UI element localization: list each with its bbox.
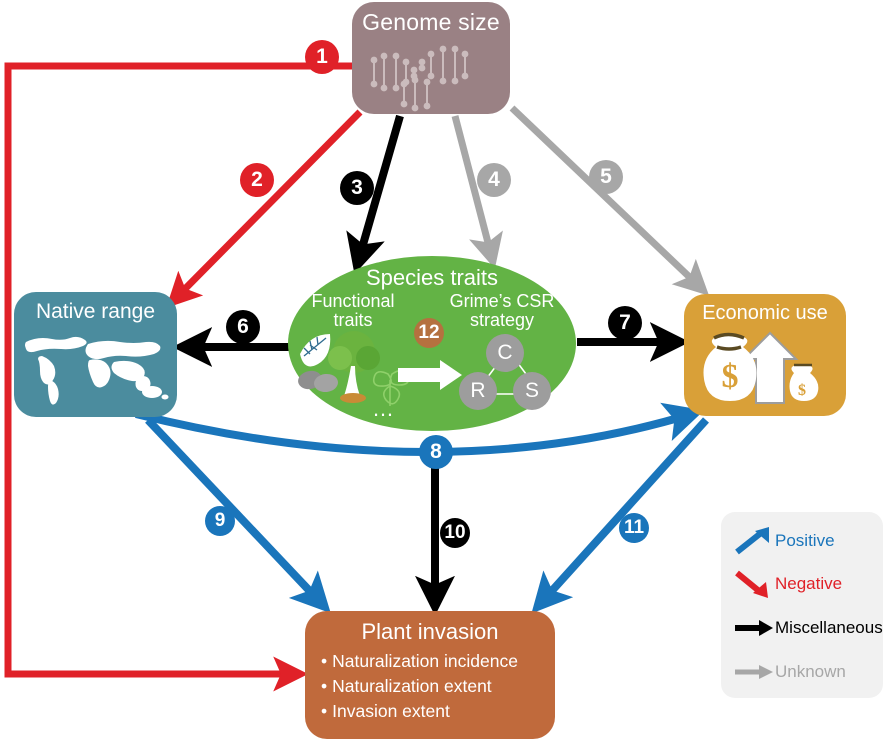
plant-invasion-bullets: Naturalization incidence Naturalization … (305, 649, 555, 724)
csr-strategy-label: Grime’s CSR strategy (443, 292, 561, 330)
legend-item-miscellaneous[interactable]: Miscellaneous (733, 613, 883, 643)
seeds-icon (296, 369, 338, 394)
list-item: Naturalization extent (321, 674, 555, 699)
arrow-badge-7[interactable]: 7 (608, 306, 642, 340)
arrow-badge-12[interactable]: 12 (414, 318, 444, 348)
svg-text:$: $ (722, 358, 739, 395)
arrow-11-path (540, 420, 706, 604)
arrow-right-icon (733, 658, 775, 686)
node-genome-size[interactable]: Genome size (352, 2, 510, 114)
functional-traits-label: Functional traits (300, 292, 406, 330)
node-plant-invasion[interactable]: Plant invasion Naturalization incidence … (305, 611, 555, 739)
node-genome-size-label: Genome size (352, 2, 510, 36)
dna-helix-icon (352, 36, 510, 114)
node-economic-use-label: Economic use (684, 294, 846, 325)
arrow-badge-10[interactable]: 10 (440, 518, 470, 548)
node-native-range-label: Native range (14, 292, 177, 324)
tree-icon (328, 331, 380, 403)
csr-node-c[interactable]: C (486, 334, 524, 372)
legend-label-positive: Positive (775, 531, 835, 551)
csr-node-r[interactable]: R (459, 372, 497, 410)
arrow-badge-5[interactable]: 5 (589, 160, 623, 194)
legend-label-miscellaneous: Miscellaneous (775, 618, 883, 638)
legend-item-positive[interactable]: Positive (733, 526, 835, 556)
leaf-icon (300, 334, 330, 366)
node-native-range[interactable]: Native range (14, 292, 177, 417)
arrow-badge-9[interactable]: 9 (205, 506, 235, 536)
arrow-badge-4[interactable]: 4 (477, 163, 511, 197)
node-species-traits-label: Species traits (288, 256, 576, 291)
legend-label-unknown: Unknown (775, 662, 846, 682)
arrow-badge-8[interactable]: 8 (419, 435, 453, 469)
arrow-up-right-icon (733, 527, 775, 555)
arrow-right-icon (733, 614, 775, 642)
list-item: Invasion extent (321, 699, 555, 724)
arrow-badge-1[interactable]: 1 (305, 40, 339, 74)
arrow-badge-2[interactable]: 2 (240, 163, 274, 197)
legend-item-unknown[interactable]: Unknown (733, 657, 846, 687)
arrow-badge-11[interactable]: 11 (619, 513, 649, 543)
arrow-badge-6[interactable]: 6 (226, 310, 260, 344)
csr-node-s[interactable]: S (513, 372, 551, 410)
list-item: Naturalization incidence (321, 649, 555, 674)
arrow-down-right-icon (733, 570, 775, 598)
trait-ellipsis: … (372, 396, 396, 422)
legend-label-negative: Negative (775, 574, 842, 594)
node-plant-invasion-label: Plant invasion (305, 611, 555, 645)
svg-text:$: $ (798, 382, 806, 399)
diagram-canvas: Genome size (0, 0, 883, 740)
node-economic-use[interactable]: Economic use $ $ (684, 294, 846, 416)
money-bag-growth-icon: $ $ (684, 325, 846, 411)
legend-panel: Positive Negative Miscellaneous Unknown (721, 512, 883, 698)
world-map-icon (14, 324, 177, 408)
legend-item-negative[interactable]: Negative (733, 569, 842, 599)
arrow-badge-3[interactable]: 3 (340, 171, 374, 205)
